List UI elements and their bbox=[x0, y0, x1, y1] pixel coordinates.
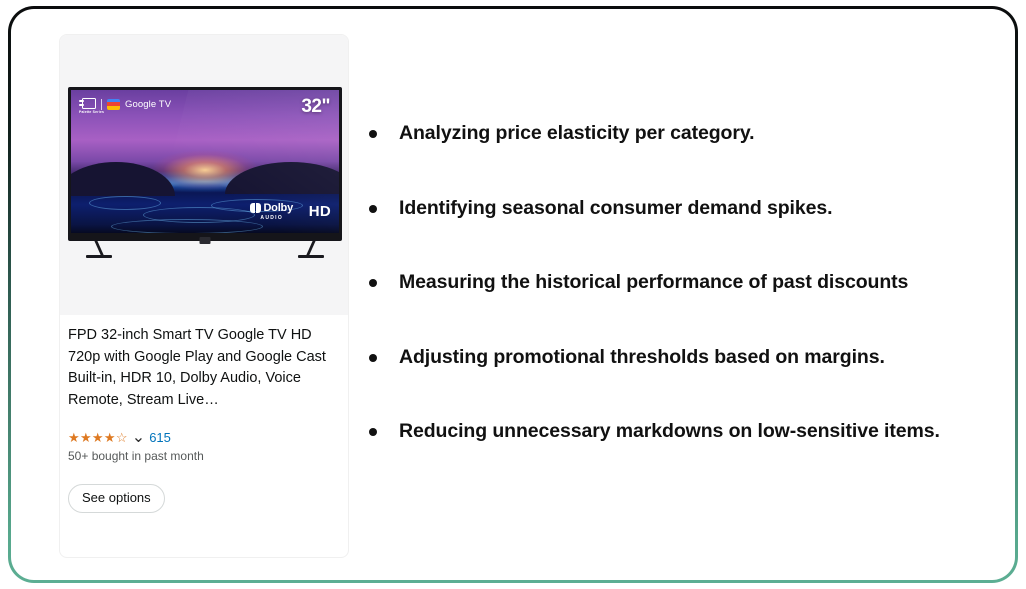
google-tv-logo-icon bbox=[107, 99, 120, 110]
bullet-dot-icon bbox=[369, 130, 377, 138]
see-options-button[interactable]: See options bbox=[68, 484, 165, 513]
list-item-label: Measuring the historical performance of … bbox=[399, 270, 908, 294]
tv-brand-badge bbox=[200, 237, 211, 244]
product-title[interactable]: FPD 32-inch Smart TV Google TV HD 720p w… bbox=[68, 325, 344, 411]
product-image-panel: Palette Series Google TV 32" bbox=[60, 35, 348, 315]
list-item: Analyzing price elasticity per category. bbox=[369, 121, 989, 196]
google-tv-label: Google TV bbox=[125, 99, 171, 110]
bullet-dot-icon bbox=[369, 428, 377, 436]
dolby-logo-icon bbox=[250, 203, 261, 213]
list-item-label: Adjusting promotional thresholds based o… bbox=[399, 345, 885, 369]
list-item: Adjusting promotional thresholds based o… bbox=[369, 345, 989, 420]
dolby-audio-badge: Dolby AUDIO bbox=[250, 202, 293, 221]
landscape-hill-right bbox=[225, 162, 339, 194]
product-card[interactable]: Palette Series Google TV 32" bbox=[59, 34, 349, 558]
slide-frame: Palette Series Google TV 32" bbox=[8, 6, 1018, 583]
list-item-label: Reducing unnecessary markdowns on low-se… bbox=[399, 419, 940, 443]
list-item-label: Identifying seasonal consumer demand spi… bbox=[399, 196, 832, 220]
list-item: Measuring the historical performance of … bbox=[369, 270, 989, 345]
screen-brand-row: Palette Series Google TV bbox=[79, 98, 171, 110]
dolby-audio-sublabel: AUDIO bbox=[260, 215, 283, 221]
water-ripple bbox=[111, 219, 263, 233]
landscape-hill-left bbox=[71, 162, 175, 196]
brand-series-label: Palette Series bbox=[79, 110, 104, 114]
tv-screen: Palette Series Google TV 32" bbox=[71, 90, 339, 233]
water-ripple bbox=[89, 196, 161, 210]
screen-size-badge: 32" bbox=[301, 96, 330, 118]
tv-stand-pad-left bbox=[86, 255, 112, 258]
bullet-dot-icon bbox=[369, 279, 377, 287]
dolby-label: Dolby bbox=[263, 202, 293, 214]
list-item-label: Analyzing price elasticity per category. bbox=[399, 121, 754, 145]
divider bbox=[101, 99, 102, 110]
review-count-link[interactable]: 615 bbox=[149, 430, 171, 445]
recent-purchases-label: 50+ bought in past month bbox=[68, 449, 204, 463]
slide-content-area: Palette Series Google TV 32" bbox=[11, 9, 1015, 580]
chevron-down-icon[interactable]: ⌄ bbox=[132, 427, 145, 447]
cast-icon bbox=[79, 98, 96, 110]
list-item: Reducing unnecessary markdowns on low-se… bbox=[369, 419, 989, 494]
bullet-dot-icon bbox=[369, 354, 377, 362]
tv-bezel: Palette Series Google TV 32" bbox=[68, 87, 342, 241]
bullet-list: Analyzing price elasticity per category.… bbox=[369, 121, 989, 494]
tv-stand-pad-right bbox=[298, 255, 324, 258]
television-illustration: Palette Series Google TV 32" bbox=[68, 87, 342, 267]
bullet-dot-icon bbox=[369, 205, 377, 213]
hd-badge: HD bbox=[309, 203, 331, 220]
rating-row[interactable]: ★★★★☆ ⌄ 615 bbox=[68, 427, 171, 447]
list-item: Identifying seasonal consumer demand spi… bbox=[369, 196, 989, 271]
star-rating-icon[interactable]: ★★★★☆ bbox=[68, 431, 128, 444]
